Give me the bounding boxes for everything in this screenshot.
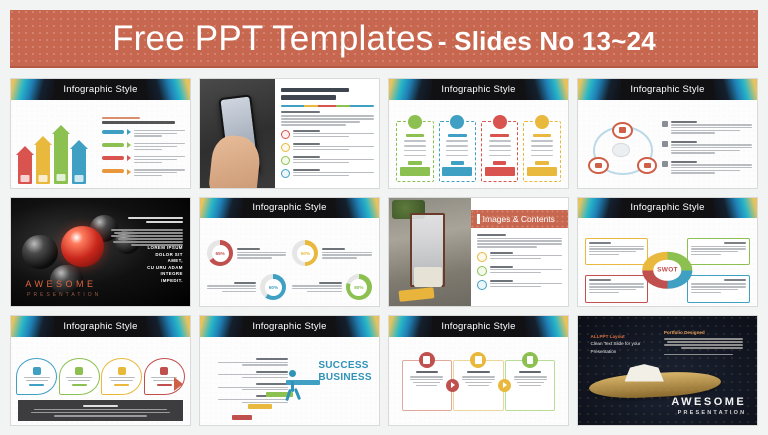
bullet-row xyxy=(662,121,752,134)
slide-thumbnail-grid: Infographic Style xyxy=(10,78,758,426)
slide-12-heading: Portfolio Designed xyxy=(664,330,743,335)
slide-12-title: AWESOME xyxy=(671,396,746,408)
slide-thumbnail-10[interactable]: Infographic Style xyxy=(199,315,380,426)
bullet-lines xyxy=(134,143,184,150)
hourglass-sand xyxy=(414,267,442,287)
three-step-boxes xyxy=(402,360,556,411)
arrow-icon-3 xyxy=(57,174,66,181)
ribbon-right-icon xyxy=(336,198,379,219)
figure-head xyxy=(289,370,296,377)
arrow-tip-icon xyxy=(16,146,34,155)
slide-12-right-text: Portfolio Designed xyxy=(664,330,743,355)
pricing-card[interactable] xyxy=(396,121,433,183)
node-icon xyxy=(595,163,602,168)
chevron-right-icon xyxy=(446,379,459,392)
bullet-row xyxy=(102,156,184,163)
card-button[interactable] xyxy=(485,167,515,176)
slide-12-kicker: ALLPPT Layout xyxy=(591,334,645,339)
arrow-icon-1 xyxy=(21,175,30,182)
bubble-label xyxy=(72,384,87,386)
ribbon-left-icon xyxy=(578,79,621,100)
donut-chart: 65% xyxy=(207,240,233,266)
slide-10-headline: SUCCESS BUSINESS xyxy=(318,360,372,385)
arrow-tip-icon xyxy=(52,125,70,134)
swot-quadrant-threats xyxy=(687,275,750,302)
bullet-lines xyxy=(134,169,184,176)
slide-body-6: 65% 50% xyxy=(200,218,379,306)
slide-body-8: SWOT xyxy=(578,218,757,306)
list-icon xyxy=(477,252,487,262)
slide-thumbnail-5[interactable]: LOREM IPSUMDOLOR SITAMET,CU URU ADAMINTE… xyxy=(10,197,191,308)
slide-body-9 xyxy=(11,337,190,425)
ribbon-left-icon xyxy=(389,79,432,100)
climbing-figure-icon xyxy=(285,370,300,401)
slide-1-text-column xyxy=(102,117,184,176)
chevron-right-icon xyxy=(127,142,131,148)
ribbon-right-icon xyxy=(714,198,757,219)
chevron-right-icon xyxy=(127,129,131,135)
slide-title-2 xyxy=(281,88,350,93)
card-button[interactable] xyxy=(442,167,472,176)
paper-boat xyxy=(625,364,664,381)
yellow-plate xyxy=(398,287,434,301)
dark-sphere xyxy=(22,235,58,270)
arrow-icon-2 xyxy=(39,175,48,182)
slide-thumbnail-7[interactable]: Images & Contents xyxy=(388,197,569,308)
ribbon-right-icon xyxy=(714,79,757,100)
figure-leg-left xyxy=(285,389,292,402)
card-button[interactable] xyxy=(527,167,557,176)
list-icon xyxy=(281,143,290,152)
ribbon-right-icon xyxy=(336,316,379,337)
arrow-tip-icon xyxy=(34,136,52,145)
slide-title-11: Infographic Style xyxy=(441,321,515,332)
card-title xyxy=(533,134,551,137)
card-badge-icon xyxy=(450,115,464,129)
card-price xyxy=(451,161,464,165)
slide-5-title: AWESOME xyxy=(25,279,96,289)
donut-cell: 65% xyxy=(207,239,286,269)
phone-photo xyxy=(200,79,275,188)
arrow-bar-4 xyxy=(72,148,86,184)
pricing-card[interactable] xyxy=(523,121,560,183)
slide-header-9: Infographic Style xyxy=(11,316,190,337)
slide-header-8: Infographic Style xyxy=(578,198,757,219)
list-item xyxy=(281,156,374,165)
bullet-pill xyxy=(102,169,124,173)
arrow-bar-3 xyxy=(54,133,68,184)
card-title xyxy=(448,134,466,137)
bubble-label xyxy=(157,384,172,386)
slide-title-10: Infographic Style xyxy=(252,321,326,332)
bullet-pill xyxy=(102,156,124,160)
color-divider-bar xyxy=(281,105,374,108)
slide-body-10: SUCCESS BUSINESS xyxy=(200,337,379,425)
slide-thumbnail-12[interactable]: ALLPPT Layout Clean Text Slide for your … xyxy=(577,315,758,426)
step-bar-1 xyxy=(232,415,252,420)
list-icon xyxy=(477,280,487,290)
arrow-tip-icon xyxy=(70,140,88,149)
screenshot-root: Free PPT Templates - Slides No 13~24 Inf… xyxy=(0,0,768,435)
step-bar-2 xyxy=(248,404,271,409)
swot-quadrant-opportunities xyxy=(585,275,648,302)
slide-thumbnail-1[interactable]: Infographic Style xyxy=(10,78,191,189)
bullet-row xyxy=(662,141,752,154)
card-price xyxy=(493,161,506,165)
headline-line-2: BUSINESS xyxy=(318,372,372,383)
slide-body-5: LOREM IPSUMDOLOR SITAMET,CU URU ADAMINTE… xyxy=(11,198,190,307)
donut-chart: 80% xyxy=(346,274,372,300)
box-icon-1 xyxy=(419,352,435,368)
slide-body-11 xyxy=(389,337,568,425)
ribbon-left-icon xyxy=(200,198,243,219)
box-title xyxy=(467,371,489,373)
slide-header-3: Infographic Style xyxy=(389,79,568,100)
arrow-icon-4 xyxy=(75,175,84,182)
pricing-card[interactable] xyxy=(481,121,518,183)
hourglass-photo xyxy=(389,198,471,307)
ribbon-right-icon xyxy=(525,79,568,100)
timeline-bubble xyxy=(16,358,57,396)
ribbon-left-icon xyxy=(200,316,243,337)
donut-chart: 50% xyxy=(292,240,318,266)
slide-header-7: Images & Contents xyxy=(471,210,568,228)
list-icon xyxy=(281,156,290,165)
slide-5-subtitle: PRESENTATION xyxy=(27,292,101,298)
slide-5-lorem-text: LOREM IPSUMDOLOR SITAMET,CU URU ADAMINTE… xyxy=(147,245,183,285)
card-badge-icon xyxy=(408,115,422,129)
timeline-arrow-icon xyxy=(174,377,183,391)
ribbon-left-icon xyxy=(578,198,621,219)
donut-cell: 80% xyxy=(292,272,371,302)
slide-title-2-line2 xyxy=(281,95,337,100)
red-sphere xyxy=(61,226,104,267)
note-row xyxy=(205,358,287,365)
box-title xyxy=(416,371,438,373)
section-label xyxy=(477,234,506,236)
slide-title-6: Infographic Style xyxy=(252,202,326,213)
chevron-right-icon xyxy=(498,379,511,392)
donut-value: 60% xyxy=(269,285,278,290)
donut-chart: 60% xyxy=(260,274,286,300)
slide-thumbnail-3[interactable]: Infographic Style xyxy=(388,78,569,189)
box-title xyxy=(519,371,541,373)
bullet-square-icon xyxy=(662,141,668,147)
slide-header-1: Infographic Style xyxy=(11,79,190,100)
slide-title-3: Infographic Style xyxy=(441,84,515,95)
swot-diagram: SWOT xyxy=(585,238,750,303)
bullet-row xyxy=(102,169,184,176)
node-icon xyxy=(644,163,651,168)
step-box-1[interactable] xyxy=(402,360,453,411)
slide-header-10: Infographic Style xyxy=(200,316,379,337)
slide-title-7: Images & Contents xyxy=(483,214,555,224)
tri-circle-diagram xyxy=(583,119,662,184)
bullet-square-icon xyxy=(662,161,668,167)
list-item xyxy=(281,169,374,178)
ribbon-left-icon xyxy=(389,316,432,337)
bullet-pill xyxy=(102,143,124,147)
slide-body-4 xyxy=(578,100,757,188)
bullet-row xyxy=(662,161,752,174)
donut-chart-grid: 65% 50% xyxy=(207,239,372,302)
donut-label-block xyxy=(292,282,341,293)
bullet-row xyxy=(102,130,184,137)
swot-quadrant-strengths xyxy=(585,238,648,265)
slide-4-text-column xyxy=(662,114,752,174)
chevron-right-icon xyxy=(127,155,131,161)
list-icon xyxy=(281,169,290,178)
bullet-pill xyxy=(102,130,124,134)
slide-title-1: Infographic Style xyxy=(63,84,137,95)
list-icon xyxy=(281,130,290,139)
figure-leg-right xyxy=(294,388,301,400)
donut-cell: 50% xyxy=(292,239,371,269)
page-banner: Free PPT Templates - Slides No 13~24 xyxy=(10,10,758,68)
slide-header-4: Infographic Style xyxy=(578,79,757,100)
step-box-2[interactable] xyxy=(453,360,504,411)
slide-thumbnail-9[interactable]: Infographic Style xyxy=(10,315,191,426)
slide-12-kicker-body: Clean Text Slide for your Presentation xyxy=(591,340,645,356)
slide-thumbnail-4[interactable]: Infographic Style xyxy=(577,78,758,189)
card-price xyxy=(535,161,548,165)
ribbon-right-icon xyxy=(147,79,190,100)
stairs-chart xyxy=(232,366,322,421)
slide-body-12: ALLPPT Layout Clean Text Slide for your … xyxy=(578,316,757,425)
banner-text-group: Free PPT Templates - Slides No 13~24 xyxy=(112,21,656,56)
slide-title-8: Infographic Style xyxy=(630,202,704,213)
slide-title-9: Infographic Style xyxy=(63,321,137,332)
diagram-node-right xyxy=(637,157,657,174)
slide-body-3 xyxy=(389,100,568,188)
card-badge-icon xyxy=(535,115,549,129)
card-price xyxy=(408,161,421,165)
donut-cell: 60% xyxy=(207,272,286,302)
bullet-square-icon xyxy=(662,121,668,127)
slide-12-left-text: ALLPPT Layout Clean Text Slide for your … xyxy=(591,334,645,356)
slide-2-text-column xyxy=(281,88,374,178)
arrow-chart xyxy=(18,119,100,184)
slide-header-6: Infographic Style xyxy=(200,198,379,219)
slide-5-caption xyxy=(111,217,183,245)
banner-subtitle: - Slides No 13~24 xyxy=(438,26,656,56)
list-item xyxy=(281,143,374,152)
box-icon-2 xyxy=(470,352,486,368)
bubble-icon xyxy=(118,367,126,375)
banner-title: Free PPT Templates xyxy=(112,19,433,58)
card-title xyxy=(490,134,508,137)
donut-label-block xyxy=(237,248,286,259)
kicker-line xyxy=(102,117,140,119)
slide-header-11: Infographic Style xyxy=(389,316,568,337)
list-item xyxy=(477,252,562,262)
bubble-icon xyxy=(160,367,168,375)
donut-value: 65% xyxy=(216,251,225,256)
list-icon xyxy=(477,266,487,276)
box-icon-3 xyxy=(522,352,538,368)
slide-12-subtitle: PRESENTATION xyxy=(678,410,747,416)
slide-thumbnail-2[interactable] xyxy=(199,78,380,189)
card-button[interactable] xyxy=(400,167,430,176)
node-icon xyxy=(619,127,626,132)
arrow-bar-2 xyxy=(36,144,50,184)
card-title xyxy=(406,134,424,137)
list-item xyxy=(477,266,562,276)
bullet-lines xyxy=(134,156,184,163)
list-item xyxy=(281,130,374,139)
slide-body-1 xyxy=(11,100,190,188)
diagram-node-left xyxy=(588,157,608,174)
slide-7-content: Images & Contents xyxy=(471,198,568,307)
bubble-icon xyxy=(33,367,41,375)
ribbon-left-icon xyxy=(11,316,54,337)
step-box-3[interactable] xyxy=(505,360,556,411)
bubble-label xyxy=(114,384,129,386)
swot-center-label: SWOT xyxy=(657,267,678,274)
slide-thumbnail-6[interactable]: Infographic Style 65% xyxy=(199,197,380,308)
card-badge-icon xyxy=(493,115,507,129)
bullet-row xyxy=(102,143,184,150)
list-item xyxy=(477,280,562,290)
ribbon-right-icon xyxy=(525,316,568,337)
slide-title-4: Infographic Style xyxy=(630,84,704,95)
donut-label-block xyxy=(207,282,256,293)
donut-label-block xyxy=(322,248,371,259)
timeline-bubble xyxy=(59,358,100,396)
chevron-right-icon xyxy=(127,169,131,175)
subtitle-line xyxy=(102,121,174,123)
donut-value: 50% xyxy=(301,251,310,256)
diagram-node-top xyxy=(612,122,632,139)
arrow-bar-1 xyxy=(18,154,32,184)
pricing-card-row xyxy=(396,121,561,183)
bubble-label xyxy=(29,384,44,386)
bullet-lines xyxy=(134,130,184,137)
bubble-timeline xyxy=(16,356,184,396)
slide-9-footer xyxy=(18,400,183,421)
slide-7-body xyxy=(477,234,562,290)
pricing-card[interactable] xyxy=(439,121,476,183)
header-tick-icon xyxy=(477,214,480,224)
section-label xyxy=(281,111,320,113)
ribbon-left-icon xyxy=(11,79,54,100)
ribbon-right-icon xyxy=(147,316,190,337)
slide-thumbnail-11[interactable]: Infographic Style xyxy=(388,315,569,426)
bubble-icon xyxy=(75,367,83,375)
headline-line-1: SUCCESS xyxy=(318,360,368,371)
donut-value: 80% xyxy=(354,285,363,290)
timeline-bubble xyxy=(101,358,142,396)
swot-quadrant-weaknesses xyxy=(687,238,750,265)
slide-thumbnail-8[interactable]: Infographic Style xyxy=(577,197,758,308)
